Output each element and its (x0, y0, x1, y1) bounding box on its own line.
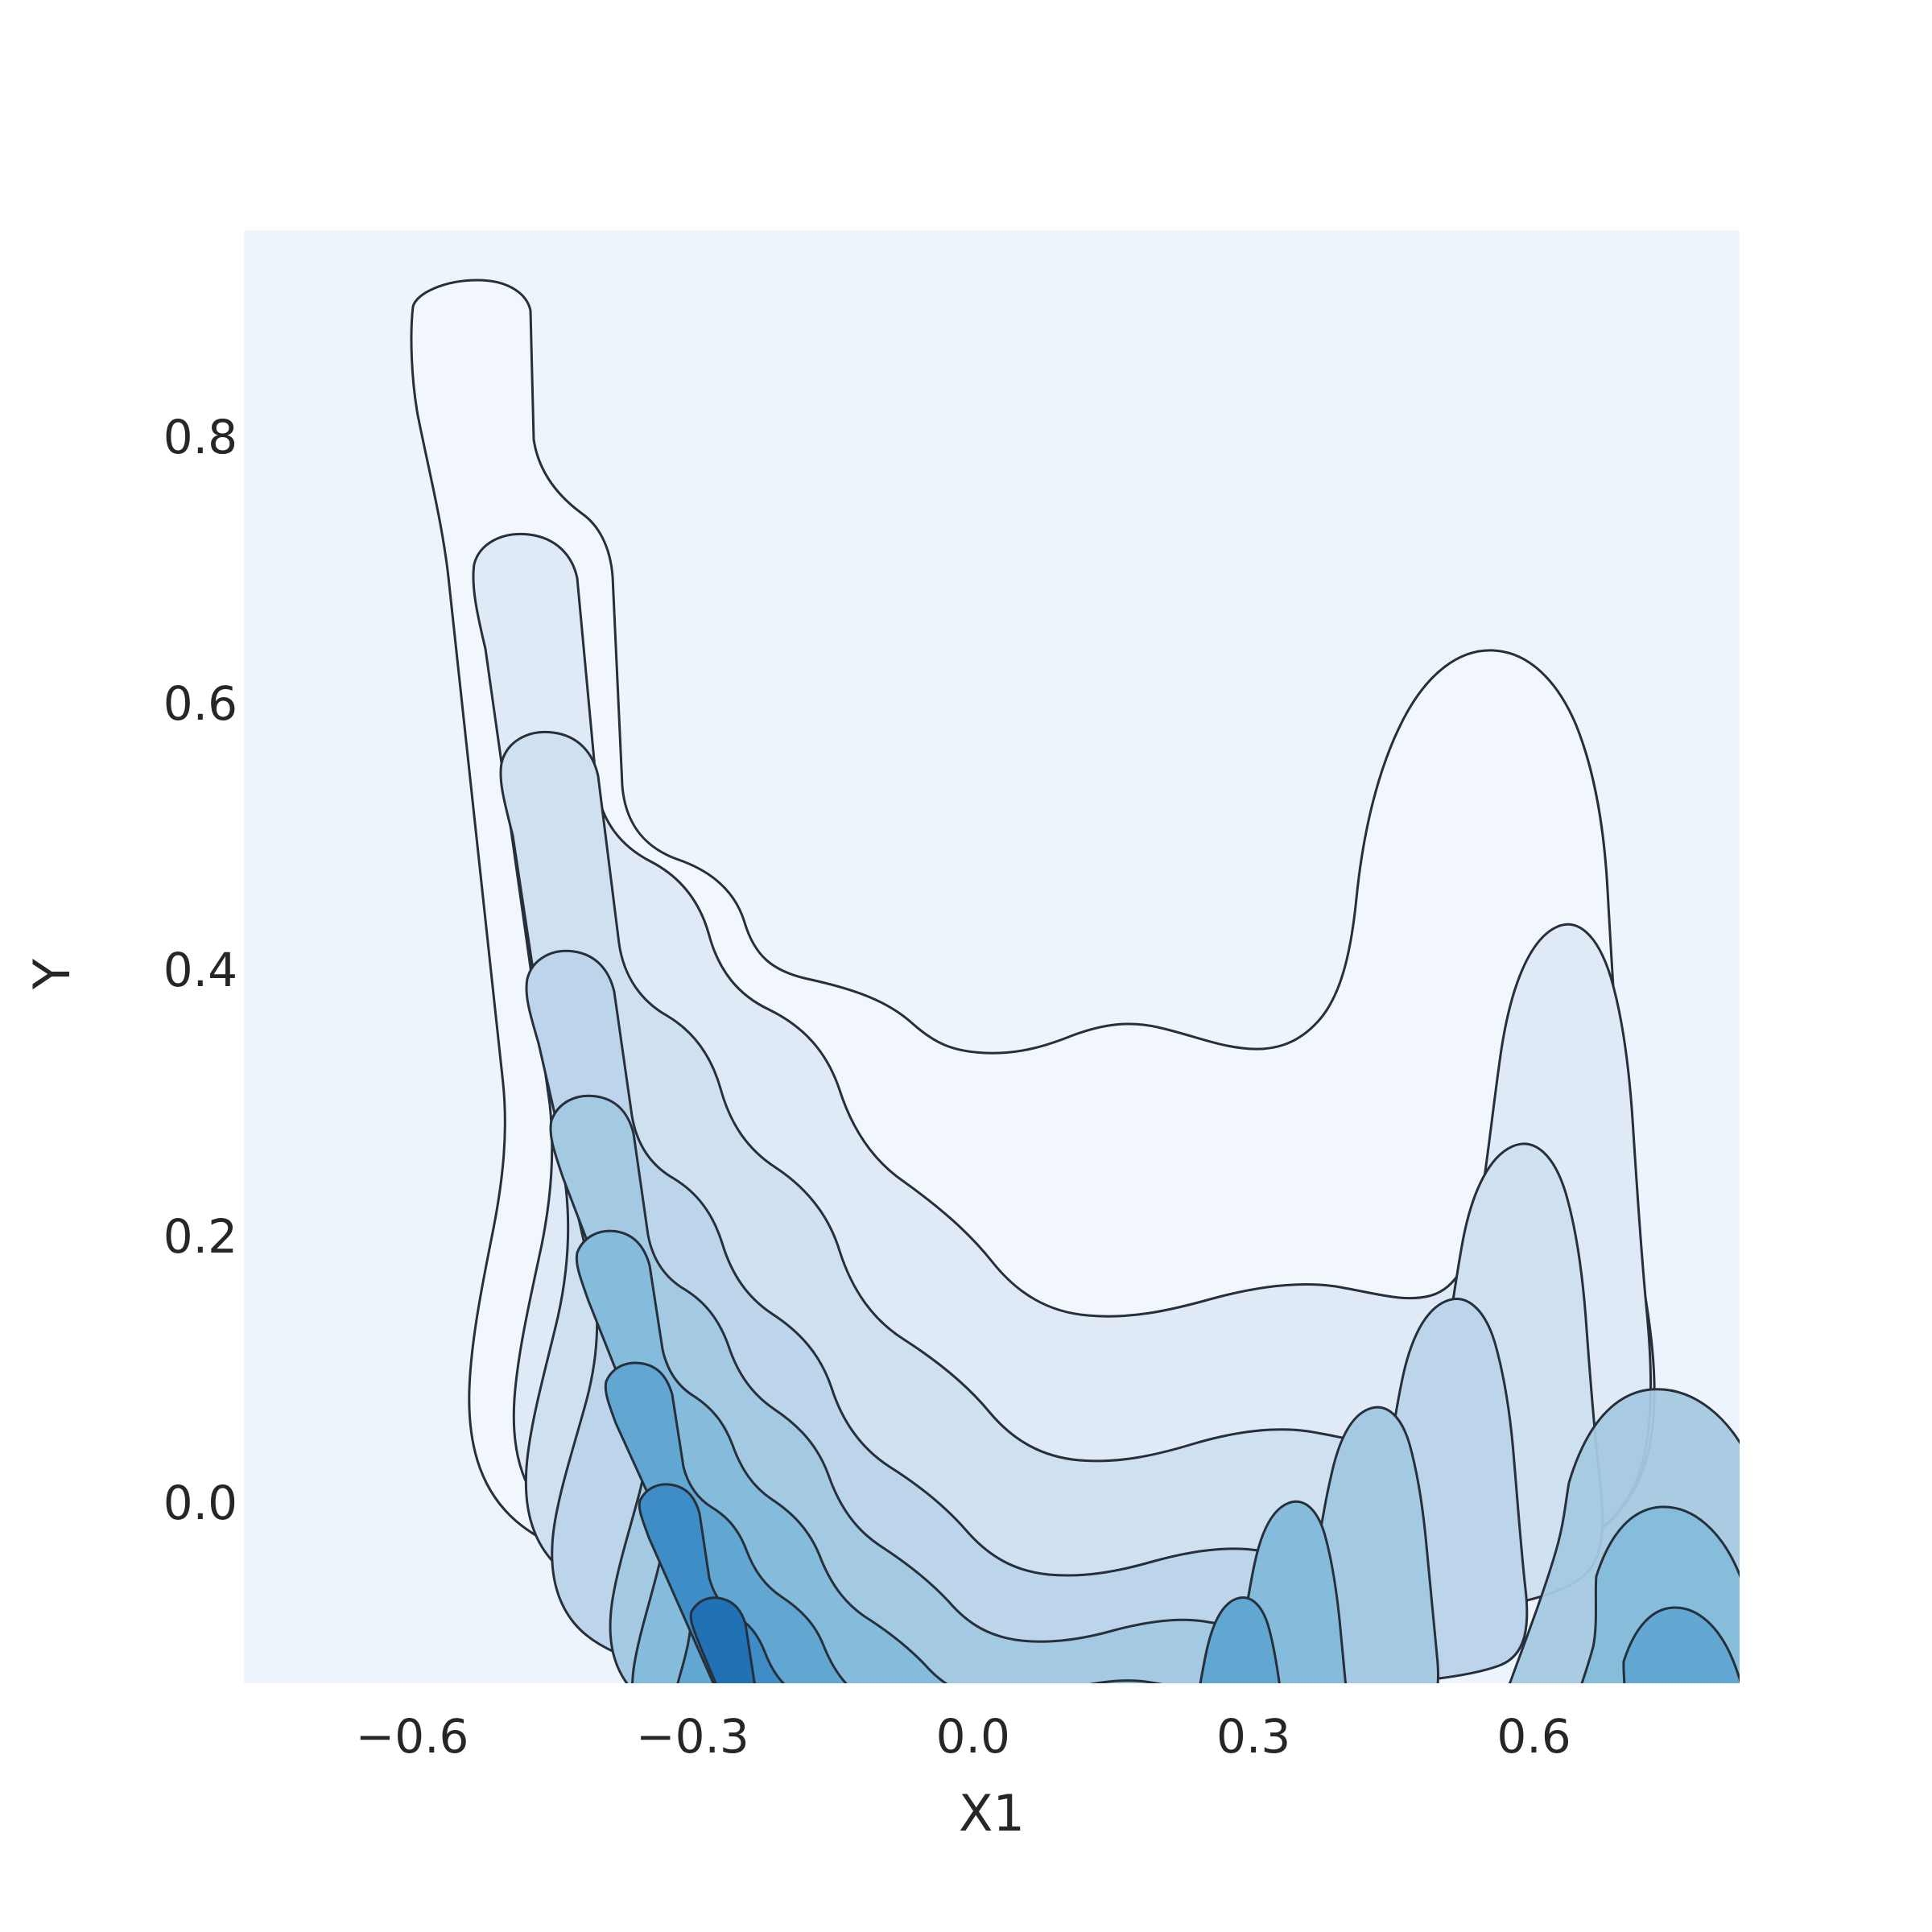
y-axis-label: Y (27, 959, 77, 989)
contour-plot (244, 230, 1740, 1683)
xtick-label-2: 0.0 (936, 1713, 1010, 1760)
xtick-label-4: 0.6 (1496, 1713, 1571, 1760)
contour-bands (411, 280, 1740, 1683)
ytick-label-3: 0.6 (163, 680, 237, 727)
x-axis-label: X1 (959, 1789, 1025, 1839)
chart-root: 0.0 0.2 0.4 0.6 0.8 −0.6 −0.3 0.0 0.3 0.… (0, 0, 1932, 1932)
ytick-label-1: 0.2 (163, 1213, 237, 1260)
xtick-label-3: 0.3 (1216, 1713, 1290, 1760)
ytick-label-4: 0.8 (163, 414, 237, 460)
xtick-label-1: −0.3 (636, 1713, 749, 1760)
ytick-label-0: 0.0 (163, 1480, 237, 1526)
xtick-label-0: −0.6 (356, 1713, 469, 1760)
plot-area (244, 230, 1740, 1683)
ytick-label-2: 0.4 (163, 947, 237, 993)
